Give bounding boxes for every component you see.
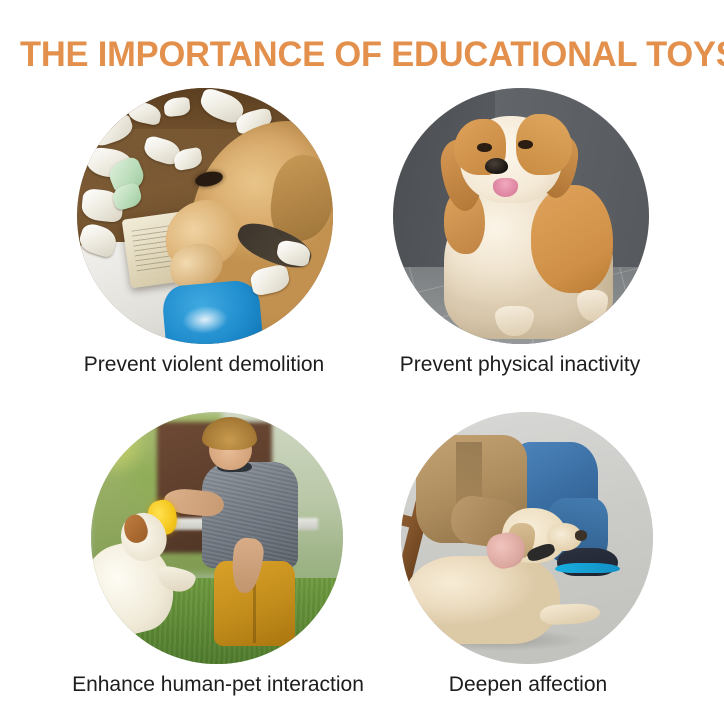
benefit-caption-3: Enhance human-pet interaction [58,672,378,698]
shoe-sole [555,563,621,573]
benefit-caption-4: Deepen affection [368,672,688,698]
benefits-grid: Prevent violent demolition Prevent physi… [0,80,724,720]
photo-person-petting-dog [401,412,653,664]
benefit-card-2: Prevent physical inactivity [360,80,680,400]
photo-dog-shredding-paper [77,88,333,344]
dog-body [404,556,560,644]
photo-overweight-beagle [393,88,649,344]
dog-flank-right [531,185,613,293]
dog-nose [575,530,588,540]
benefit-caption-2: Prevent physical inactivity [360,352,680,378]
benefit-caption-1: Prevent violent demolition [44,352,364,378]
dog-eye-left [477,143,491,152]
dog-nose [485,158,508,173]
dog-eye-right [518,140,532,149]
page-title: THE IMPORTANCE OF EDUCATIONAL TOYS [20,35,700,75]
blue-package [161,278,264,344]
photo-boy-playing-with-dog [91,412,343,664]
benefit-card-4: Deepen affection [368,404,688,724]
benefit-card-1: Prevent violent demolition [44,80,364,400]
benefit-card-3: Enhance human-pet interaction [58,404,378,724]
